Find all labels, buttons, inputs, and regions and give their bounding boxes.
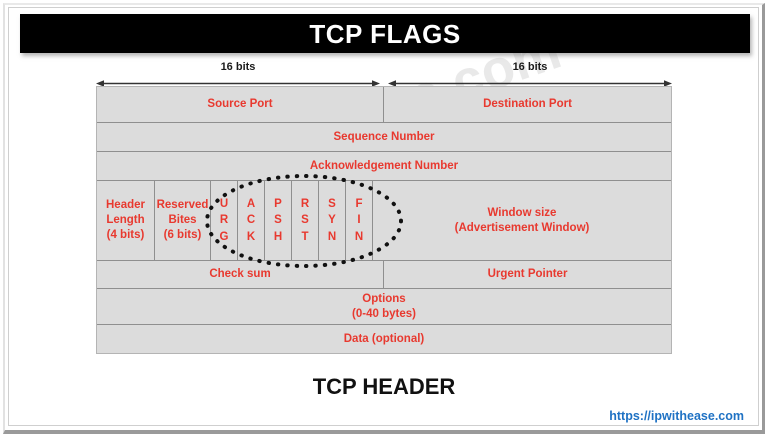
flag-urg-letter-0: U bbox=[220, 196, 228, 212]
flag-ack-letters: A C K bbox=[247, 196, 255, 245]
flag-cell-rst: R S T bbox=[292, 181, 319, 260]
flag-urg-letters: U R G bbox=[220, 196, 229, 245]
flag-urg-letter-2: G bbox=[220, 229, 229, 245]
table-row-sequence: Sequence Number bbox=[97, 123, 671, 152]
flag-psh-letter-2: H bbox=[274, 229, 282, 245]
measure-right: 16 bits bbox=[388, 62, 672, 86]
table-row-acknowledgement: Acknowledgement Number bbox=[97, 152, 671, 181]
options-line2: (0-40 bytes) bbox=[352, 307, 416, 322]
window-size-line2: (Advertisement Window) bbox=[455, 221, 590, 236]
flag-fin-letter-2: N bbox=[355, 229, 363, 245]
header-length-line2: Length bbox=[106, 213, 144, 228]
flag-ack-letter-1: C bbox=[247, 212, 255, 228]
field-header-length: Header Length (4 bits) bbox=[97, 181, 155, 260]
flag-cell-urg: U R G bbox=[211, 181, 238, 260]
diagram-caption: TCP HEADER bbox=[0, 374, 768, 400]
reserved-bits-line2: Bites bbox=[168, 213, 196, 228]
reserved-bits-line1: Reserved bbox=[157, 198, 209, 213]
header-length-line3: (4 bits) bbox=[107, 228, 145, 243]
flag-syn-letters: S Y N bbox=[328, 196, 336, 245]
field-source-port: Source Port bbox=[97, 87, 384, 122]
flag-rst-letter-1: S bbox=[301, 212, 309, 228]
flag-fin-letter-0: F bbox=[355, 196, 362, 212]
flag-syn-letter-2: N bbox=[328, 229, 336, 245]
measure-right-label: 16 bits bbox=[388, 61, 672, 73]
field-reserved-bits: Reserved Bites (6 bits) bbox=[155, 181, 211, 260]
flag-cell-psh: P S H bbox=[265, 181, 292, 260]
measure-left-label: 16 bits bbox=[96, 61, 380, 73]
flag-rst-letter-2: T bbox=[301, 229, 308, 245]
flag-fin-letter-1: I bbox=[357, 212, 360, 228]
header-length-line1: Header bbox=[106, 198, 145, 213]
page-title: TCP FLAGS bbox=[309, 21, 460, 47]
field-data: Data (optional) bbox=[97, 325, 671, 353]
flag-psh-letters: P S H bbox=[274, 196, 282, 245]
field-check-sum: Check sum bbox=[97, 261, 384, 288]
flag-syn-letter-0: S bbox=[328, 196, 336, 212]
flag-syn-letter-1: Y bbox=[328, 212, 336, 228]
flag-psh-letter-0: P bbox=[274, 196, 282, 212]
window-size-line1: Window size bbox=[488, 206, 557, 221]
site-url-link[interactable]: https://ipwithease.com bbox=[609, 409, 744, 423]
tcp-header-table: Source Port Destination Port Sequence Nu… bbox=[96, 86, 672, 354]
reserved-bits-line3: (6 bits) bbox=[164, 228, 202, 243]
field-urgent-pointer: Urgent Pointer bbox=[384, 261, 671, 288]
flag-ack-letter-0: A bbox=[247, 196, 255, 212]
options-line1: Options bbox=[362, 292, 405, 307]
flag-cell-syn: S Y N bbox=[319, 181, 346, 260]
field-destination-port: Destination Port bbox=[384, 87, 671, 122]
flag-urg-letter-1: R bbox=[220, 212, 228, 228]
bit-width-measures: 16 bits 16 bits bbox=[96, 62, 672, 86]
table-row-data: Data (optional) bbox=[97, 325, 671, 353]
flag-cell-ack: A C K bbox=[238, 181, 265, 260]
flag-ack-letter-2: K bbox=[247, 229, 255, 245]
flag-fin-letters: F I N bbox=[355, 196, 363, 245]
table-row-checksum: Check sum Urgent Pointer bbox=[97, 261, 671, 289]
diagram-page: ipwithease.com TCP FLAGS 16 bits 16 bits bbox=[0, 0, 768, 437]
flag-cell-fin: F I N bbox=[346, 181, 373, 260]
field-options: Options (0-40 bytes) bbox=[97, 289, 671, 324]
table-row-ports: Source Port Destination Port bbox=[97, 87, 671, 123]
title-bar: TCP FLAGS bbox=[20, 14, 750, 53]
flag-rst-letters: R S T bbox=[301, 196, 309, 245]
field-sequence-number: Sequence Number bbox=[97, 123, 671, 151]
flag-psh-letter-1: S bbox=[274, 212, 282, 228]
field-acknowledgement-number: Acknowledgement Number bbox=[97, 152, 671, 180]
table-row-flags: Header Length (4 bits) Reserved Bites (6… bbox=[97, 181, 671, 261]
table-row-options: Options (0-40 bytes) bbox=[97, 289, 671, 325]
measure-left: 16 bits bbox=[96, 62, 380, 86]
flag-rst-letter-0: R bbox=[301, 196, 309, 212]
field-window-size: Window size (Advertisement Window) bbox=[373, 181, 671, 260]
